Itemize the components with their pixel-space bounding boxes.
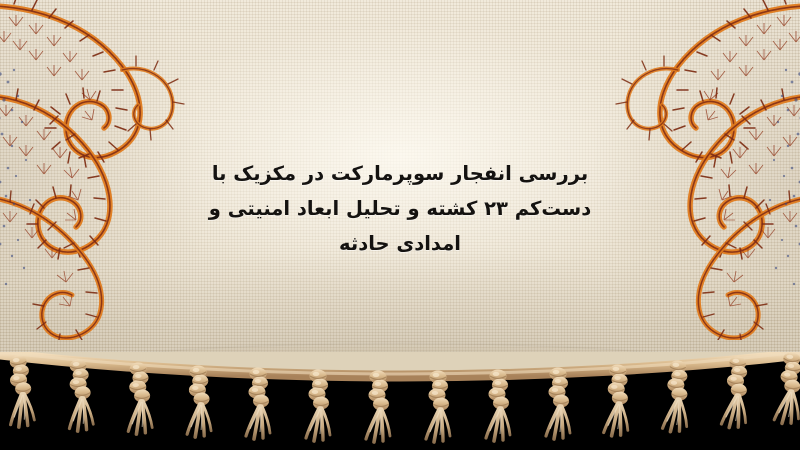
headline-line-3: امدادی حادثه [170, 226, 630, 261]
headline-line-2: دست‌کم ۲۳ کشته و تحلیل ابعاد امنیتی و [170, 191, 630, 226]
headline-line-1: بررسی انفجار سوپرمارکت در مکزیک با [170, 156, 630, 191]
headline-card: ٤٢٣ [0, 0, 800, 450]
headline-text: بررسی انفجار سوپرمارکت در مکزیک با دست‌ک… [170, 156, 630, 261]
cloth-hem [0, 344, 800, 372]
